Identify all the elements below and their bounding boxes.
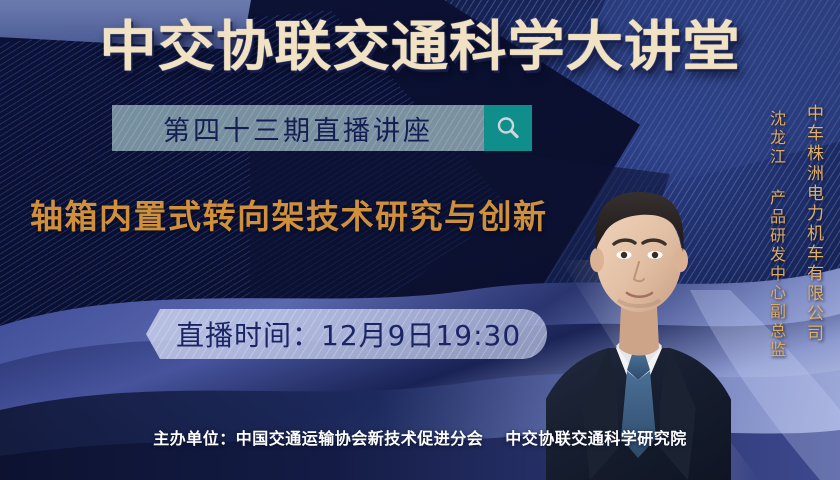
- session-label: 第四十三期直播讲座: [163, 109, 433, 148]
- live-lecture-poster: 中交协联交通科学大讲堂 第四十三期直播讲座 轴箱内置式转向架技术研究与创新 直播…: [0, 0, 840, 480]
- search-icon: [494, 114, 522, 142]
- speaker-name-role: 沈龙江 产品研发中心副总监: [764, 110, 788, 360]
- footer-organizers: 主办单位：中国交通运输协会新技术促进分会中交协联交通科学研究院: [0, 425, 840, 449]
- search-button[interactable]: [484, 105, 532, 151]
- session-label-field[interactable]: 第四十三期直播讲座: [112, 105, 484, 151]
- live-time-banner: 直播时间：12月9日19:30: [146, 309, 547, 359]
- speaker-company: 中车株洲电力机车有限公司: [801, 104, 826, 344]
- session-search-bar[interactable]: 第四十三期直播讲座: [112, 105, 532, 151]
- page-title: 中交协联交通科学大讲堂: [0, 14, 840, 80]
- footer-organizer-2: 中交协联交通科学研究院: [505, 429, 687, 448]
- footer-prefix: 主办单位：: [153, 429, 236, 448]
- lecture-title: 轴箱内置式转向架技术研究与创新: [30, 196, 548, 238]
- footer-organizer-1: 中国交通运输协会新技术促进分会: [236, 429, 484, 448]
- live-time-text: 直播时间：12月9日19:30: [176, 314, 521, 354]
